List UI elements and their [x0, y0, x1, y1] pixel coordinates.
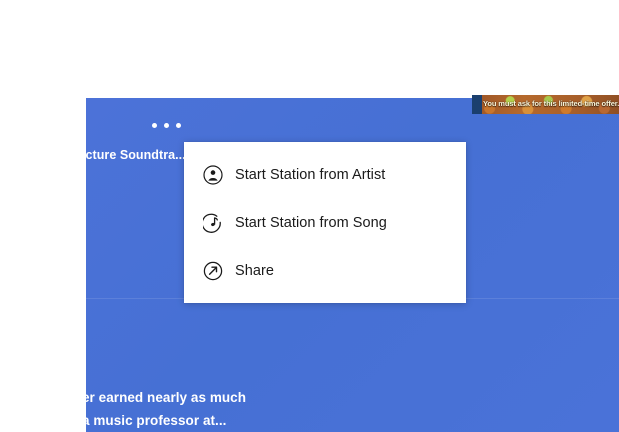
overflow-dot-icon: [176, 123, 181, 128]
menu-item-share[interactable]: Share: [184, 247, 466, 295]
article-snippet-line: er earned nearly as much: [82, 386, 264, 409]
menu-item-label: Start Station from Song: [235, 215, 387, 231]
artist-circle-icon: [202, 164, 224, 186]
article-snippet[interactable]: er earned nearly as much a music profess…: [82, 386, 264, 432]
overflow-dot-icon: [152, 123, 157, 128]
album-title[interactable]: icture Soundtra...: [82, 146, 184, 164]
overflow-dot-icon: [164, 123, 169, 128]
context-menu: Start Station from Artist Start Station …: [184, 142, 466, 303]
menu-item-label: Share: [235, 263, 274, 279]
menu-item-start-station-from-song[interactable]: Start Station from Song: [184, 199, 466, 247]
share-arrow-circle-icon: [202, 260, 224, 282]
advertisement-text: You must ask for this limited-time offer…: [483, 98, 619, 109]
article-snippet-line: a music professor at...: [82, 409, 264, 432]
menu-item-label: Start Station from Artist: [235, 167, 385, 183]
overflow-menu-button[interactable]: [146, 117, 186, 134]
screenshot-root: You must ask for this limited-time offer…: [0, 0, 619, 432]
advertisement-banner[interactable]: You must ask for this limited-time offer…: [472, 95, 619, 114]
menu-item-start-station-from-artist[interactable]: Start Station from Artist: [184, 151, 466, 199]
advertisement-accent-bar: [472, 95, 482, 114]
music-note-circle-icon: [202, 212, 224, 234]
